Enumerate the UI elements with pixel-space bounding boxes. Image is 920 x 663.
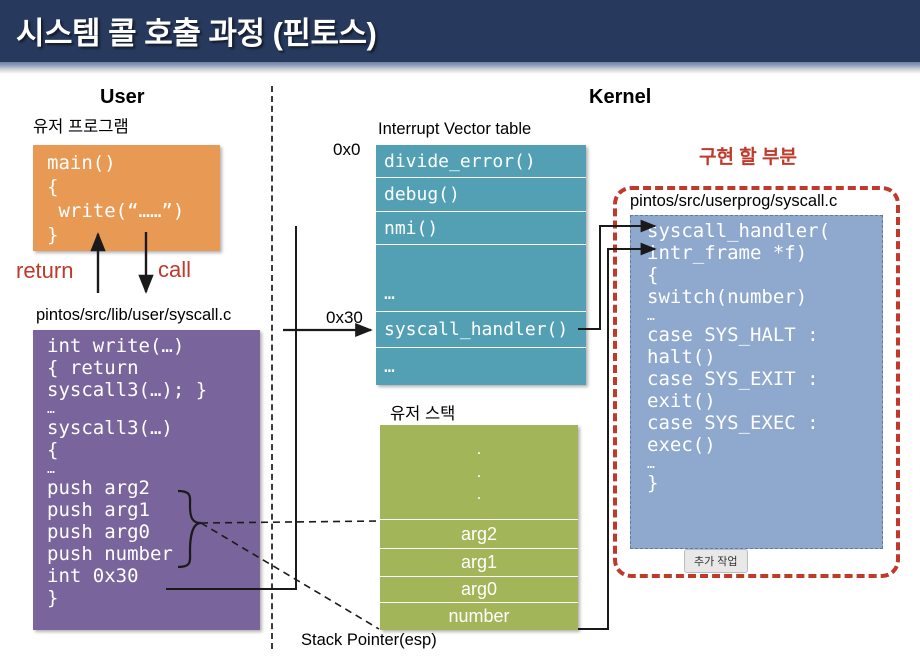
stack-caption: 유저 스택 [390, 400, 455, 424]
ivt-row[interactable]: divide_error() [376, 145, 586, 178]
title-underline [0, 62, 920, 69]
code-line: syscall3(…); } [47, 381, 260, 400]
stack-pointer-label: Stack Pointer(esp) [301, 631, 437, 650]
ivt-address-0x30: 0x30 [326, 308, 363, 328]
code-line: … [647, 458, 882, 471]
code-line: halt() [647, 348, 882, 367]
dot: . [477, 438, 482, 461]
code-line: … [47, 463, 260, 476]
user-program-code-box: main() { write(“……”) } [33, 145, 220, 251]
page-title: 시스템 콜 호출 과정 (핀토스) [16, 8, 376, 53]
ivt-row[interactable]: nmi() [376, 212, 586, 245]
interrupt-vector-table: divide_error() debug() nmi() … syscall_h… [376, 145, 586, 385]
code-line: { return [47, 359, 260, 378]
code-line: push arg1 [47, 501, 260, 520]
code-line: } [47, 589, 260, 608]
implement-region-title: 구현 할 부분 [699, 142, 797, 169]
stack-row[interactable]: arg1 [380, 549, 578, 577]
stack-row[interactable]: arg0 [380, 577, 578, 603]
call-label: call [158, 257, 191, 283]
ivt-caption: Interrupt Vector table [378, 120, 531, 139]
code-line: exit() [647, 392, 882, 411]
code-line: main() [47, 154, 220, 173]
user-syscall-code-box: int write(…) { return syscall3(…); } … s… [33, 330, 260, 630]
user-syscall-caption: pintos/src/lib/user/syscall.c [36, 306, 231, 325]
kernel-column-header: Kernel [589, 86, 651, 109]
title-shadow [0, 69, 920, 74]
code-line: intr_frame *f) [647, 244, 882, 263]
code-line: } [47, 226, 220, 245]
dot: . [477, 461, 482, 484]
slide-canvas: 시스템 콜 호출 과정 (핀토스) User Kernel 유저 프로그램 ma… [0, 0, 920, 663]
code-line: { [47, 178, 220, 197]
ivt-row-syscall-handler[interactable]: syscall_handler() [376, 312, 586, 348]
code-line: { [47, 441, 260, 460]
code-line: push arg2 [47, 479, 260, 498]
dot: . [477, 483, 482, 506]
code-line: push number [47, 545, 260, 564]
code-line: int 0x30 [47, 567, 260, 586]
user-kernel-divider [271, 86, 273, 649]
code-line: switch(number) [647, 288, 882, 307]
code-line: int write(…) [47, 337, 260, 356]
code-line: push arg0 [47, 523, 260, 542]
ivt-row[interactable]: … [376, 348, 586, 385]
code-line: case SYS_HALT : [647, 326, 882, 345]
code-line: case SYS_EXEC : [647, 414, 882, 433]
user-column-header: User [100, 86, 144, 109]
code-line: } [647, 474, 882, 493]
kernel-syscall-code-box: syscall_handler( intr_frame *f) { switch… [630, 215, 883, 549]
code-line: write(“……”) [47, 202, 220, 221]
ivt-address-0x0: 0x0 [333, 140, 360, 160]
stack-row[interactable]: arg2 [380, 520, 578, 549]
ivt-row[interactable]: debug() [376, 178, 586, 212]
user-program-caption: 유저 프로그램 [33, 113, 129, 137]
stack-row-ellipsis: . . . [380, 425, 578, 520]
code-line: exec() [647, 436, 882, 455]
code-line: syscall3(…) [47, 419, 260, 438]
kernel-syscall-caption: pintos/src/userprog/syscall.c [630, 192, 837, 211]
return-label: return [16, 258, 73, 284]
code-line: case SYS_EXIT : [647, 370, 882, 389]
code-line: … [647, 310, 882, 323]
code-line: … [47, 403, 260, 416]
user-stack: . . . arg2 arg1 arg0 number [380, 425, 578, 630]
ivt-row[interactable]: … [376, 245, 586, 312]
code-line: { [647, 266, 882, 285]
additional-work-badge: 추가 작업 [684, 549, 748, 573]
stack-row[interactable]: number [380, 603, 578, 630]
code-line: syscall_handler( [647, 222, 882, 241]
